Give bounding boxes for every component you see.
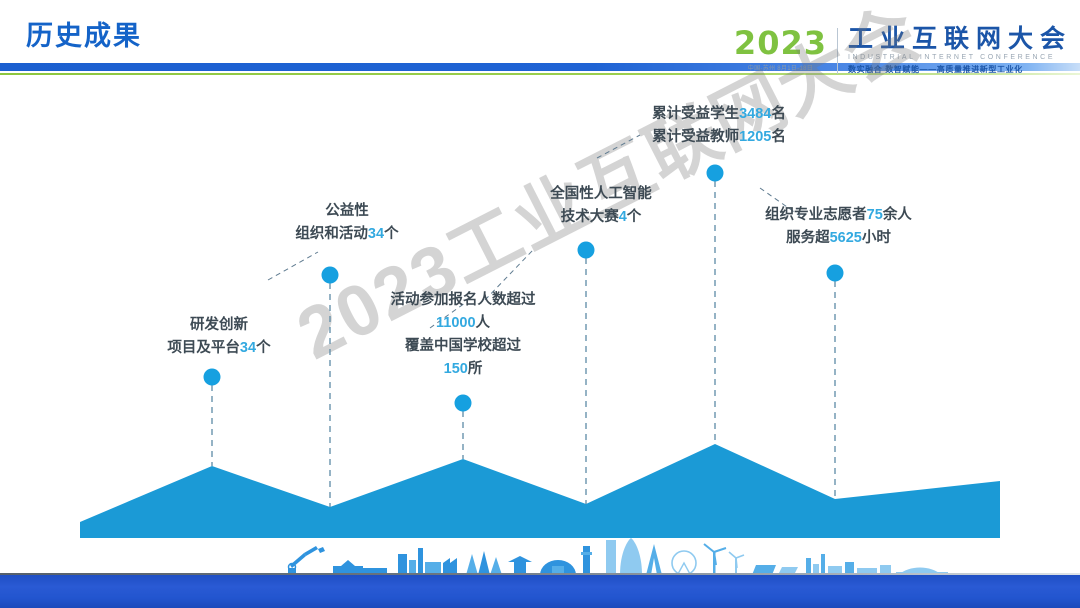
label-text: 名 bbox=[771, 129, 786, 145]
label-text: 所 bbox=[468, 361, 483, 377]
label-text: 累计受益学生 bbox=[652, 106, 739, 122]
logo-slogan: 数实融合 数智赋能——高质量推进新型工业化 bbox=[848, 64, 1072, 75]
label-public-welfare: 公益性组织和活动34个 bbox=[262, 200, 432, 246]
wind-turbine-blades-2 bbox=[729, 552, 744, 568]
glass-tower-2 bbox=[620, 538, 642, 575]
label-metric-value: 3484 bbox=[739, 106, 771, 122]
landmark-tower-ring bbox=[581, 552, 592, 555]
label-line: 活动参加报名人数超过 bbox=[373, 289, 553, 312]
label-text: 覆盖中国学校超过 bbox=[405, 338, 521, 354]
label-beneficiaries: 累计受益学生3484名累计受益教师1205名 bbox=[629, 103, 809, 149]
data-point-marker-2[interactable] bbox=[455, 395, 472, 412]
factory-chimney bbox=[418, 548, 423, 575]
label-line: 技术大赛4个 bbox=[516, 206, 686, 229]
label-metric-value: 11000 bbox=[436, 315, 476, 331]
label-ai-contest: 全国性人工智能技术大赛4个 bbox=[516, 183, 686, 229]
label-text: 公益性 bbox=[325, 203, 369, 219]
label-text: 全国性人工智能 bbox=[550, 186, 652, 202]
label-text: 余人 bbox=[883, 207, 912, 223]
label-text: 研发创新 bbox=[190, 317, 248, 333]
eiffel-tower-icon bbox=[646, 544, 662, 575]
label-line: 研发创新 bbox=[134, 314, 304, 337]
pagoda-roof-icon bbox=[508, 556, 532, 562]
page-title: 历史成果 bbox=[26, 14, 142, 53]
data-point-marker-4[interactable] bbox=[707, 165, 724, 182]
data-point-marker-1[interactable] bbox=[322, 267, 339, 284]
landmark-tower-icon bbox=[583, 546, 590, 575]
logo-name-cn: 工业互联网大会 bbox=[848, 26, 1072, 53]
label-line: 累计受益学生3484名 bbox=[629, 103, 809, 126]
label-metric-value: 1205 bbox=[739, 129, 771, 145]
label-line: 公益性 bbox=[262, 200, 432, 223]
label-metric-value: 5625 bbox=[830, 230, 862, 246]
factory-tower-1 bbox=[398, 554, 407, 575]
robot-arm-lower-icon bbox=[290, 553, 306, 568]
robot-gripper-icon bbox=[318, 547, 325, 553]
label-text: 名 bbox=[771, 106, 786, 122]
label-text: 人 bbox=[476, 315, 491, 331]
logo-year: 2023 bbox=[734, 26, 827, 60]
robot-arm-upper-icon bbox=[304, 546, 318, 556]
label-text: 活动参加报名人数超过 bbox=[391, 292, 536, 308]
label-line: 服务超5625小时 bbox=[746, 227, 931, 250]
label-metric-value: 150 bbox=[444, 361, 468, 377]
conference-logo: 2023 中国·苏州 8月1日-18日 工业互联网大会 INDUSTRIAL I… bbox=[734, 26, 1072, 84]
label-line: 组织专业志愿者75余人 bbox=[746, 204, 931, 227]
label-line: 全国性人工智能 bbox=[516, 183, 686, 206]
chart-area-shape bbox=[80, 444, 1000, 538]
label-text: 个 bbox=[384, 226, 399, 242]
label-metric-value: 4 bbox=[619, 209, 627, 225]
label-participation: 活动参加报名人数超过11000人覆盖中国学校超过150所 bbox=[373, 289, 553, 381]
label-text: 个 bbox=[627, 209, 642, 225]
label-text: 小时 bbox=[862, 230, 891, 246]
data-point-marker-3[interactable] bbox=[578, 242, 595, 259]
slide-footer bbox=[0, 538, 1080, 608]
label-text: 累计受益教师 bbox=[652, 129, 739, 145]
logo-year-block: 2023 中国·苏州 8月1日-18日 bbox=[734, 26, 837, 72]
milestone-chart: 研发创新项目及平台34个公益性组织和活动34个活动参加报名人数超过11000人覆… bbox=[0, 92, 1080, 552]
label-line: 覆盖中国学校超过 bbox=[373, 335, 553, 358]
label-line: 组织和活动34个 bbox=[262, 223, 432, 246]
label-line: 11000人 bbox=[373, 312, 553, 335]
slide-header: 历史成果 2023 中国·苏州 8月1日-18日 工业互联网大会 INDUSTR… bbox=[0, 0, 1080, 92]
crane-2 bbox=[478, 551, 490, 575]
logo-place-date: 中国·苏州 8月1日-18日 bbox=[734, 63, 827, 72]
label-text: 组织和活动 bbox=[295, 226, 368, 242]
label-text: 组织专业志愿者 bbox=[765, 207, 867, 223]
glass-tower-1 bbox=[606, 540, 616, 575]
logo-name-block: 工业互联网大会 INDUSTRIAL INTERNET CONFERENCE 数… bbox=[848, 26, 1072, 75]
label-volunteers: 组织专业志愿者75余人服务超5625小时 bbox=[746, 204, 931, 250]
city-block-3 bbox=[821, 554, 825, 575]
crane-1 bbox=[466, 554, 478, 575]
footer-blue-band bbox=[0, 575, 1080, 608]
label-metric-value: 75 bbox=[867, 207, 883, 223]
label-text: 个 bbox=[256, 340, 271, 356]
logo-name-en: INDUSTRIAL INTERNET CONFERENCE bbox=[848, 54, 1072, 61]
label-metric-value: 34 bbox=[368, 226, 384, 242]
label-line: 150所 bbox=[373, 358, 553, 381]
data-point-marker-0[interactable] bbox=[204, 369, 221, 386]
label-text: 服务超 bbox=[786, 230, 830, 246]
wind-turbine-blades-1 bbox=[704, 544, 726, 565]
logo-divider bbox=[837, 28, 838, 74]
label-text: 技术大赛 bbox=[561, 209, 619, 225]
label-line: 项目及平台34个 bbox=[134, 337, 304, 360]
label-text: 项目及平台 bbox=[167, 340, 240, 356]
data-point-marker-5[interactable] bbox=[827, 265, 844, 282]
slide-root: 历史成果 2023 中国·苏州 8月1日-18日 工业互联网大会 INDUSTR… bbox=[0, 0, 1080, 608]
label-metric-value: 34 bbox=[240, 340, 256, 356]
label-rd: 研发创新项目及平台34个 bbox=[134, 314, 304, 360]
label-line: 累计受益教师1205名 bbox=[629, 126, 809, 149]
connector-line-0 bbox=[268, 252, 318, 280]
